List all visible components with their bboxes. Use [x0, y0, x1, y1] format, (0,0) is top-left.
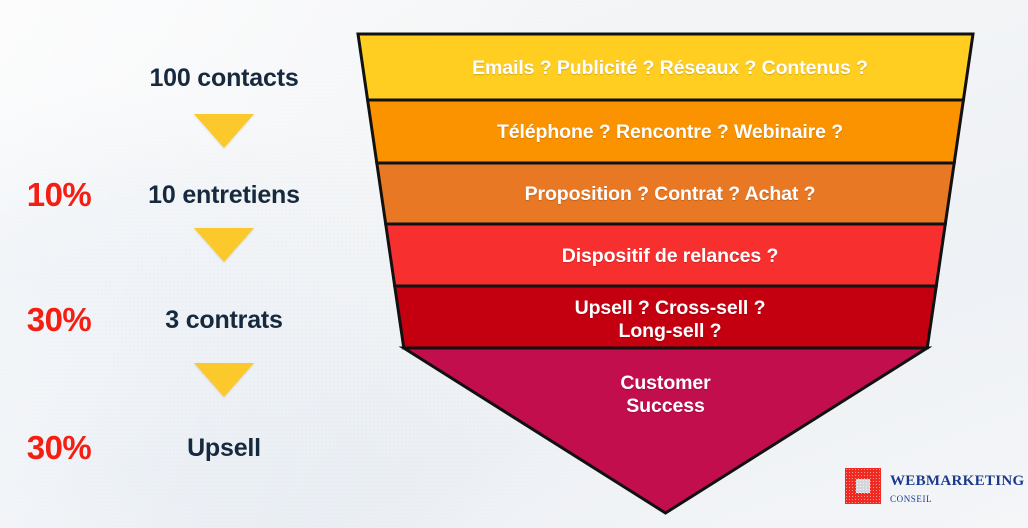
- arrow-down-3-icon: [194, 363, 254, 397]
- metric-label-2: 3 contrats: [118, 306, 330, 335]
- arrow-down-1-icon: [194, 114, 254, 148]
- metric-percent-2: 30%: [0, 301, 118, 339]
- metric-row-contacts: 100 contacts: [0, 55, 330, 101]
- funnel-diagram: Emails ? Publicité ? Réseaux ? Contenus …: [340, 14, 1000, 528]
- metric-label-3: Upsell: [118, 434, 330, 463]
- funnel-band-1: [358, 34, 973, 100]
- metrics-column: 100 contacts 10% 10 entretiens 30% 3 con…: [0, 0, 340, 528]
- funnel-band-2: [368, 100, 964, 163]
- arrow-down-2-wrap: [118, 228, 330, 262]
- arrow-down-3-wrap: [118, 363, 330, 397]
- funnel-band-5: [395, 286, 937, 348]
- logo-wordmark: Webmarketing Conseil: [890, 468, 1024, 504]
- funnel-band-4: [386, 224, 946, 286]
- logo-sub-text: Conseil: [890, 491, 1024, 504]
- funnel-infographic: 100 contacts 10% 10 entretiens 30% 3 con…: [0, 0, 1028, 528]
- logo-square-icon: [845, 468, 881, 504]
- arrow-down-1-wrap: [118, 114, 330, 148]
- logo-main-text: Webmarketing: [890, 468, 1024, 489]
- metric-percent-1: 10%: [0, 176, 118, 214]
- arrow-down-2-icon: [194, 228, 254, 262]
- funnel-svg: [340, 14, 1000, 528]
- metric-percent-3: 30%: [0, 429, 118, 467]
- funnel-band-3: [377, 163, 954, 224]
- metric-row-upsell: 30% Upsell: [0, 425, 330, 471]
- metric-row-contrats: 30% 3 contrats: [0, 297, 330, 343]
- metric-label-1: 10 entretiens: [118, 181, 330, 210]
- metric-label-0: 100 contacts: [118, 64, 330, 93]
- metric-row-entretiens: 10% 10 entretiens: [0, 172, 330, 218]
- webmarketing-conseil-logo: Webmarketing Conseil: [845, 468, 1024, 504]
